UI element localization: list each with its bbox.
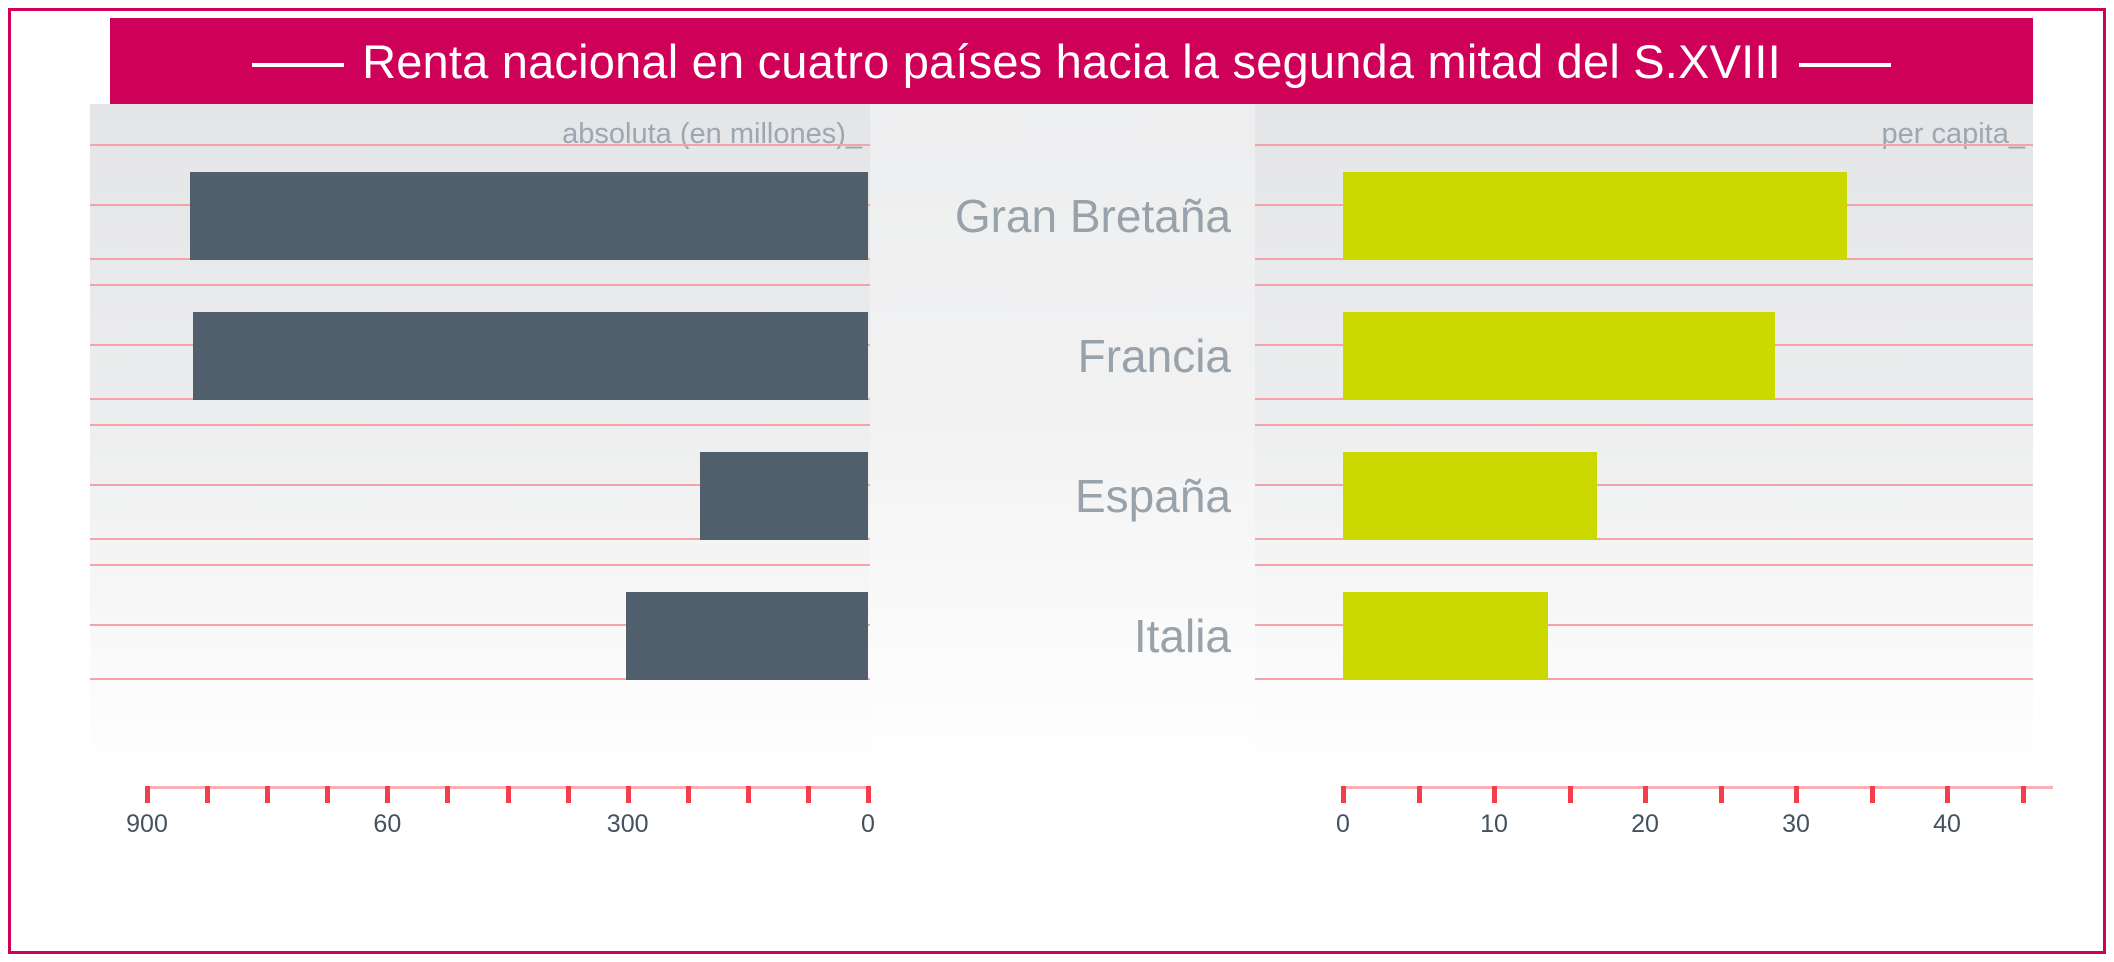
- x-axis-percapita: 010203040: [1255, 786, 2033, 874]
- plot-area-percapita: [1255, 104, 2033, 786]
- axis-tick-absolute: [686, 786, 691, 803]
- page-title: Renta nacional en cuatro países hacia la…: [234, 34, 1909, 89]
- axis-tick-absolute: [385, 786, 390, 803]
- axis-tick-percapita: [1643, 786, 1648, 803]
- gridline: [90, 284, 870, 286]
- gridline: [90, 424, 870, 426]
- gridline: [90, 564, 870, 566]
- axis-tick-label-percapita: 10: [1480, 810, 1508, 839]
- axis-tick-absolute: [205, 786, 210, 803]
- title-rule-left-icon: [252, 63, 344, 67]
- chart-panel-percapita: per capita_ 010203040: [1255, 104, 2033, 874]
- axis-tick-percapita: [1794, 786, 1799, 803]
- title-band: Renta nacional en cuatro países hacia la…: [110, 18, 2033, 104]
- bar-absolute: [700, 452, 868, 540]
- bar-absolute: [190, 172, 868, 260]
- category-labels-panel: Gran BretañaFranciaEspañaItalia: [870, 104, 1255, 874]
- category-label-list: Gran BretañaFranciaEspañaItalia: [870, 104, 1255, 786]
- category-label-4: Italia: [891, 609, 1231, 663]
- axis-tick-label-percapita: 40: [1933, 810, 1961, 839]
- plot-area-absolute: [90, 104, 870, 786]
- axis-tick-label-absolute: 900: [126, 810, 168, 839]
- slide-root: Renta nacional en cuatro países hacia la…: [0, 0, 2114, 962]
- axis-tick-absolute: [325, 786, 330, 803]
- chart-panel-absolute: absoluta (en millones)_ 900603000: [90, 104, 870, 874]
- x-axis-absolute: 900603000: [90, 786, 870, 874]
- category-label-3: España: [891, 469, 1231, 523]
- bar-percapita: [1343, 452, 1597, 540]
- bar-percapita: [1343, 172, 1847, 260]
- bar-absolute: [626, 592, 868, 680]
- axis-tick-percapita: [2021, 786, 2026, 803]
- bar-percapita: [1343, 592, 1548, 680]
- gridline: [1255, 564, 2033, 566]
- axis-tick-absolute: [626, 786, 631, 803]
- category-label-2: Francia: [891, 329, 1231, 383]
- axis-tick-percapita: [1417, 786, 1422, 803]
- axis-tick-absolute: [265, 786, 270, 803]
- axis-tick-percapita: [1568, 786, 1573, 803]
- bar-percapita: [1343, 312, 1775, 400]
- axis-tick-percapita: [1870, 786, 1875, 803]
- axis-tick-label-absolute: 60: [373, 810, 401, 839]
- axis-tick-percapita: [1341, 786, 1346, 803]
- gridline: [1255, 424, 2033, 426]
- title-text: Renta nacional en cuatro países hacia la…: [362, 35, 1781, 88]
- axis-tick-absolute: [566, 786, 571, 803]
- axis-tick-percapita: [1492, 786, 1497, 803]
- bar-absolute: [193, 312, 868, 400]
- axis-tick-label-percapita: 30: [1782, 810, 1810, 839]
- title-rule-right-icon: [1799, 63, 1891, 67]
- category-label-1: Gran Bretaña: [891, 189, 1231, 243]
- axis-tick-absolute: [145, 786, 150, 803]
- axis-tick-percapita: [1945, 786, 1950, 803]
- axis-tick-label-percapita: 0: [1336, 810, 1350, 839]
- charts-container: absoluta (en millones)_ 900603000 Gran B…: [90, 104, 2033, 874]
- axis-tick-absolute: [506, 786, 511, 803]
- axis-tick-absolute: [445, 786, 450, 803]
- gridline: [90, 144, 870, 146]
- axis-tick-label-percapita: 20: [1631, 810, 1659, 839]
- gridline: [1255, 144, 2033, 146]
- axis-tick-percapita: [1719, 786, 1724, 803]
- axis-tick-absolute: [746, 786, 751, 803]
- axis-tick-label-absolute: 300: [607, 810, 649, 839]
- axis-tick-absolute: [806, 786, 811, 803]
- gridline: [1255, 284, 2033, 286]
